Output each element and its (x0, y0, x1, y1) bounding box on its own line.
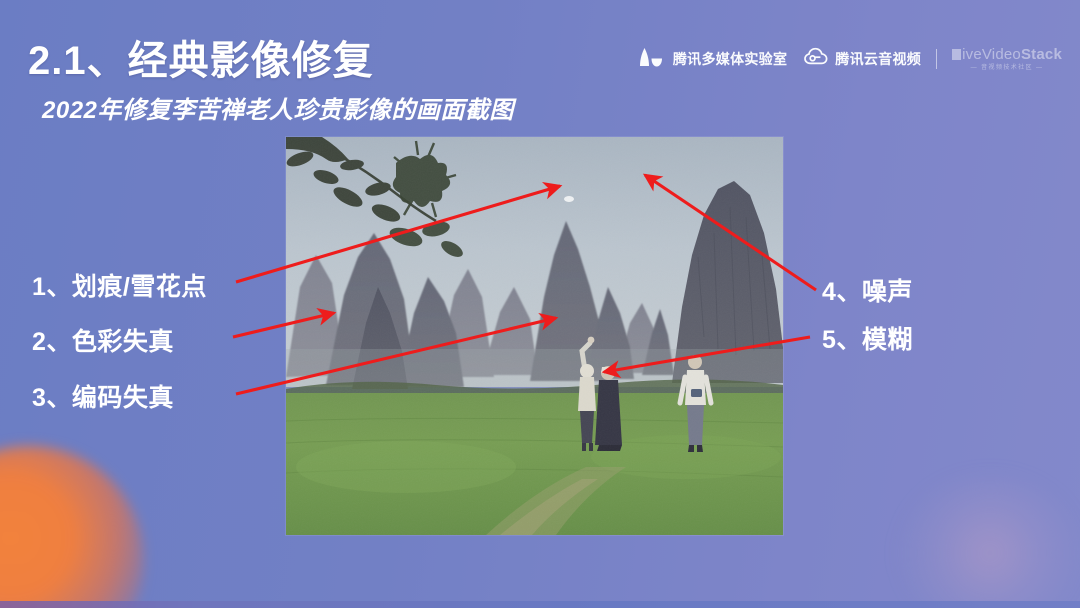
brand-livevideostack: iveVideoStack — 音视频技术社区 — (952, 47, 1062, 71)
annotation-label-1: 1、划痕/雪花点 (32, 267, 207, 303)
livevideostack-wordmark: iveVideoStack (952, 47, 1062, 62)
annotation-label-3: 3、编码失真 (32, 378, 174, 414)
brand-label-multimedia-lab: 腾讯多媒体实验室 (673, 49, 787, 69)
bottom-edge-accent (0, 601, 1080, 608)
orange-glow-decoration (0, 446, 144, 608)
page-title: 2.1、经典影像修复 (28, 28, 374, 86)
restored-film-screenshot (286, 137, 783, 535)
brand-divider (936, 49, 937, 69)
brand-tencent-multimedia-lab: 腾讯多媒体实验室 (640, 47, 787, 72)
livevideostack-name-light: iveVideo (962, 46, 1021, 63)
annotation-label-5: 5、模糊 (822, 320, 913, 356)
livevideostack-name-bold: Stack (1021, 46, 1062, 63)
brand-tencent-cloud-av: 腾讯云音视频 (804, 47, 921, 72)
brand-bar: 腾讯多媒体实验室 腾讯云音视频 iveVideoStack — 音视频技术社区 … (640, 44, 1062, 74)
annotation-label-4: 4、噪声 (822, 272, 913, 308)
brand-label-cloud-av: 腾讯云音视频 (835, 49, 921, 69)
pink-glow-decoration (900, 478, 1080, 608)
livevideostack-tagline: — 音视频技术社区 — (971, 65, 1044, 71)
slide-canvas: 2.1、经典影像修复 2022年修复李苦禅老人珍贵影像的画面截图 腾讯多媒体实验… (0, 0, 1080, 608)
page-subtitle: 2022年修复李苦禅老人珍贵影像的画面截图 (42, 90, 514, 125)
photo-illustration (286, 137, 783, 535)
annotation-label-2: 2、色彩失真 (32, 322, 174, 358)
mountain-logo-icon (640, 47, 666, 72)
cloud-icon (804, 47, 828, 72)
